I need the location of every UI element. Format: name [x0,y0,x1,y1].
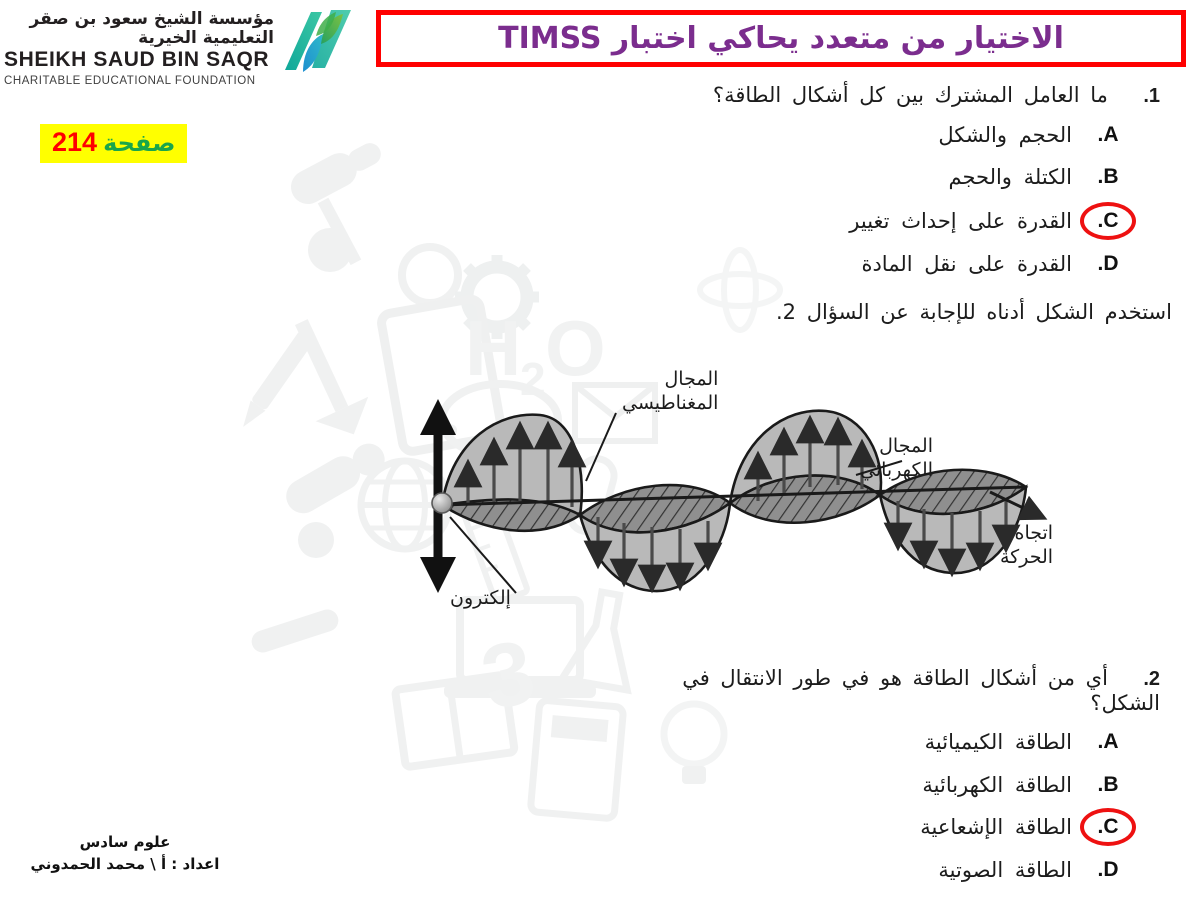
org-name-english-secondary: CHARITABLE EDUCATIONAL FOUNDATION [4,75,274,89]
org-name-english-primary: SHEIKH SAUD BIN SAQR [4,48,274,72]
option-text-c: القدرة على إحداث تغيير [849,209,1072,233]
question-1-option-d[interactable]: D. القدرة على نقل المادة [861,252,1130,276]
option-letter-d: D. [1086,252,1130,276]
foundation-wordmark: مؤسسة الشيخ سعود بن صقر التعليمية الخيري… [4,10,274,88]
question-1-stem: ما العامل المشترك بين كل أشكال الطاقة؟ [713,83,1108,107]
question-2-option-b[interactable]: B. الطاقة الكهربائية [922,773,1130,797]
motion-direction-label: اتجاه الحركة [1000,522,1053,570]
option-letter-b: B. [1086,773,1130,797]
electron-label: إلكترون [450,587,511,611]
question-2-number: 2. [1143,668,1160,690]
question-2-stem-row: 2. أي من أشكال الطاقة هو في طور الانتقال… [400,665,1160,716]
figure-instruction: استخدم الشكل أدناه للإجابة عن السؤال 2. [312,300,1172,324]
question-2-stem-line2: الشكل؟ [400,690,1160,716]
option-text-a: الطاقة الكيميائية [925,730,1072,754]
worksheet-page: H 2 O [0,0,1200,900]
option-text-d: القدرة على نقل المادة [861,252,1072,276]
worksheet-title-box: الاختيار من متعدد يحاكي اختبار TIMSS [376,10,1186,67]
org-name-arabic: مؤسسة الشيخ سعود بن صقر التعليمية الخيري… [4,10,274,47]
electromagnetic-wave-figure: المجال المغناطيسي المجال الكهربائي اتجاه… [390,365,1050,635]
correct-answer-circle-q2 [1080,808,1136,846]
footer-subject: علوم سادس [0,832,250,854]
question-2-option-a[interactable]: A. الطاقة الكيميائية [925,730,1130,754]
electric-field-label: المجال الكهربائي [860,435,933,483]
option-letter-c: C. [1086,209,1130,233]
book-leaf-logo-icon [281,6,357,80]
question-1-option-c[interactable]: C. القدرة على إحداث تغيير [849,209,1130,233]
question-2-option-d[interactable]: D. الطاقة الصوتية [938,858,1130,882]
option-text-b: الطاقة الكهربائية [922,773,1072,797]
option-text-c: الطاقة الإشعاعية [920,815,1072,839]
option-letter-b: B. [1086,165,1130,189]
question-1-number: 1. [1143,85,1160,107]
option-text-a: الحجم والشكل [938,123,1072,147]
question-1-stem-row: 1. ما العامل المشترك بين كل أشكال الطاقة… [320,83,1160,108]
option-letter-d: D. [1086,858,1130,882]
page-title: الاختيار من متعدد يحاكي اختبار TIMSS [498,21,1064,56]
question-2-stem-line1: أي من أشكال الطاقة هو في طور الانتقال في [682,666,1108,690]
page-badge-label: صفحة [103,129,175,157]
magnetic-field-label: المجال المغناطيسي [622,368,718,416]
question-1-option-b[interactable]: B. الكتلة والحجم [948,165,1130,189]
worksheet-footer: علوم سادس اعداد : أ \ محمد الحمدوني [0,832,250,876]
question-1-option-a[interactable]: A. الحجم والشكل [938,123,1130,147]
page-number-badge: صفحة214 [40,124,187,163]
option-letter-a: A. [1086,123,1130,147]
footer-author: اعداد : أ \ محمد الحمدوني [0,854,250,876]
option-text-b: الكتلة والحجم [948,165,1072,189]
option-letter-a: A. [1086,730,1130,754]
page-badge-number: 214 [52,127,97,157]
option-letter-c: C. [1086,815,1130,839]
correct-answer-circle-q1 [1080,202,1136,240]
option-text-d: الطاقة الصوتية [938,858,1072,882]
question-2-option-c[interactable]: C. الطاقة الإشعاعية [920,815,1130,839]
